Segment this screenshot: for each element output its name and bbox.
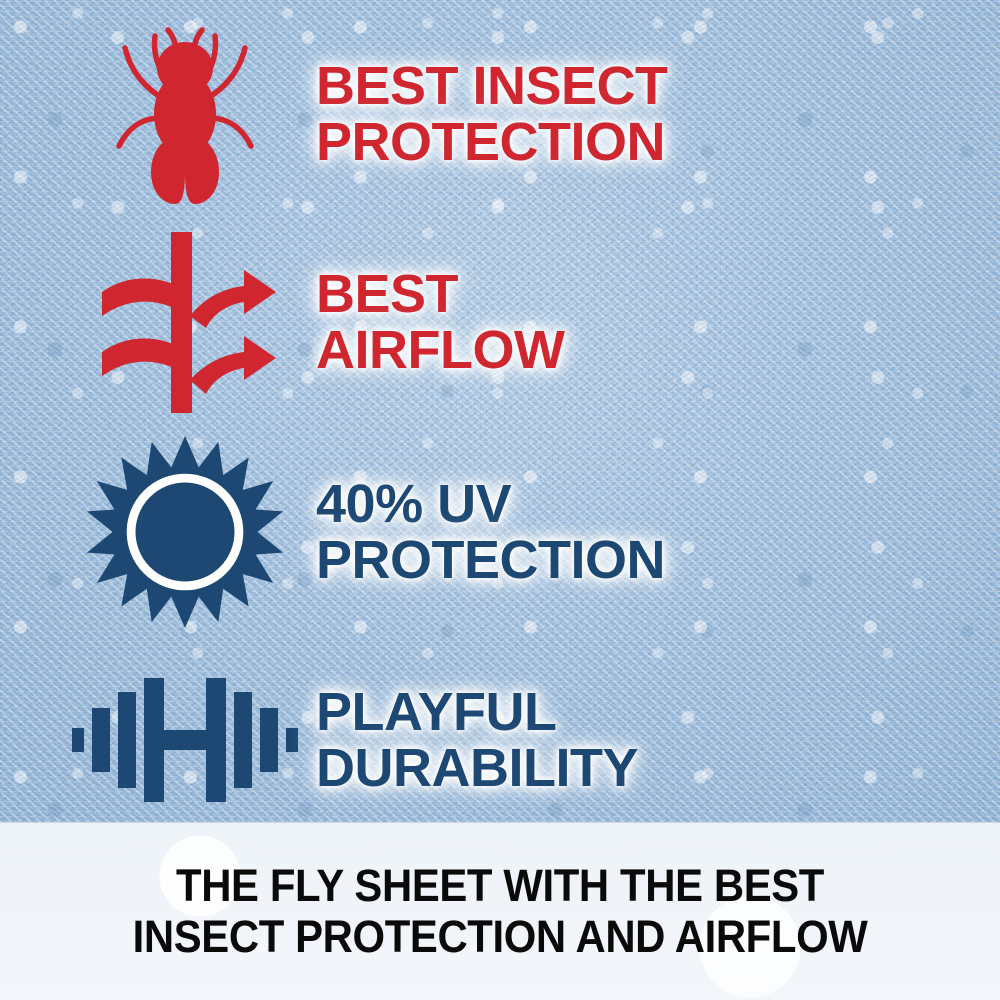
feature-label-insect-protection: BEST INSECT PROTECTION (316, 58, 668, 170)
fly-icon (105, 22, 265, 207)
sun-uv-icon (87, 434, 283, 630)
feature-row-insect-protection: BEST INSECT PROTECTION (60, 14, 668, 214)
feature-label-airflow: BEST AIRFLOW (316, 266, 564, 378)
dumbbell-icon-cell (60, 640, 310, 840)
feature-list: BEST INSECT PROTECTION BEST AIRFLOW (0, 0, 1000, 822)
feature-label-durability: PLAYFUL DURABILITY (316, 684, 638, 796)
feature-row-uv-protection: 40% UV PROTECTION (60, 432, 665, 632)
sun-uv-icon-cell (60, 432, 310, 632)
insect-protection-text-cell: BEST INSECT PROTECTION (310, 58, 668, 170)
airflow-icon-cell (60, 222, 310, 422)
dumbbell-icon (70, 670, 300, 810)
caption-strip: THE FLY SHEET WITH THE BEST INSECT PROTE… (0, 822, 1000, 1000)
feature-label-uv-protection: 40% UV PROTECTION (316, 476, 665, 588)
uv-protection-text-cell: 40% UV PROTECTION (310, 476, 665, 588)
feature-row-durability: PLAYFUL DURABILITY (60, 640, 638, 840)
durability-text-cell: PLAYFUL DURABILITY (310, 684, 638, 796)
airflow-text-cell: BEST AIRFLOW (310, 266, 564, 378)
feature-row-airflow: BEST AIRFLOW (60, 222, 564, 422)
product-feature-poster: BEST INSECT PROTECTION BEST AIRFLOW (0, 0, 1000, 1000)
airflow-icon (90, 230, 280, 415)
fly-icon-cell (60, 14, 310, 214)
product-tagline: THE FLY SHEET WITH THE BEST INSECT PROTE… (133, 861, 868, 962)
